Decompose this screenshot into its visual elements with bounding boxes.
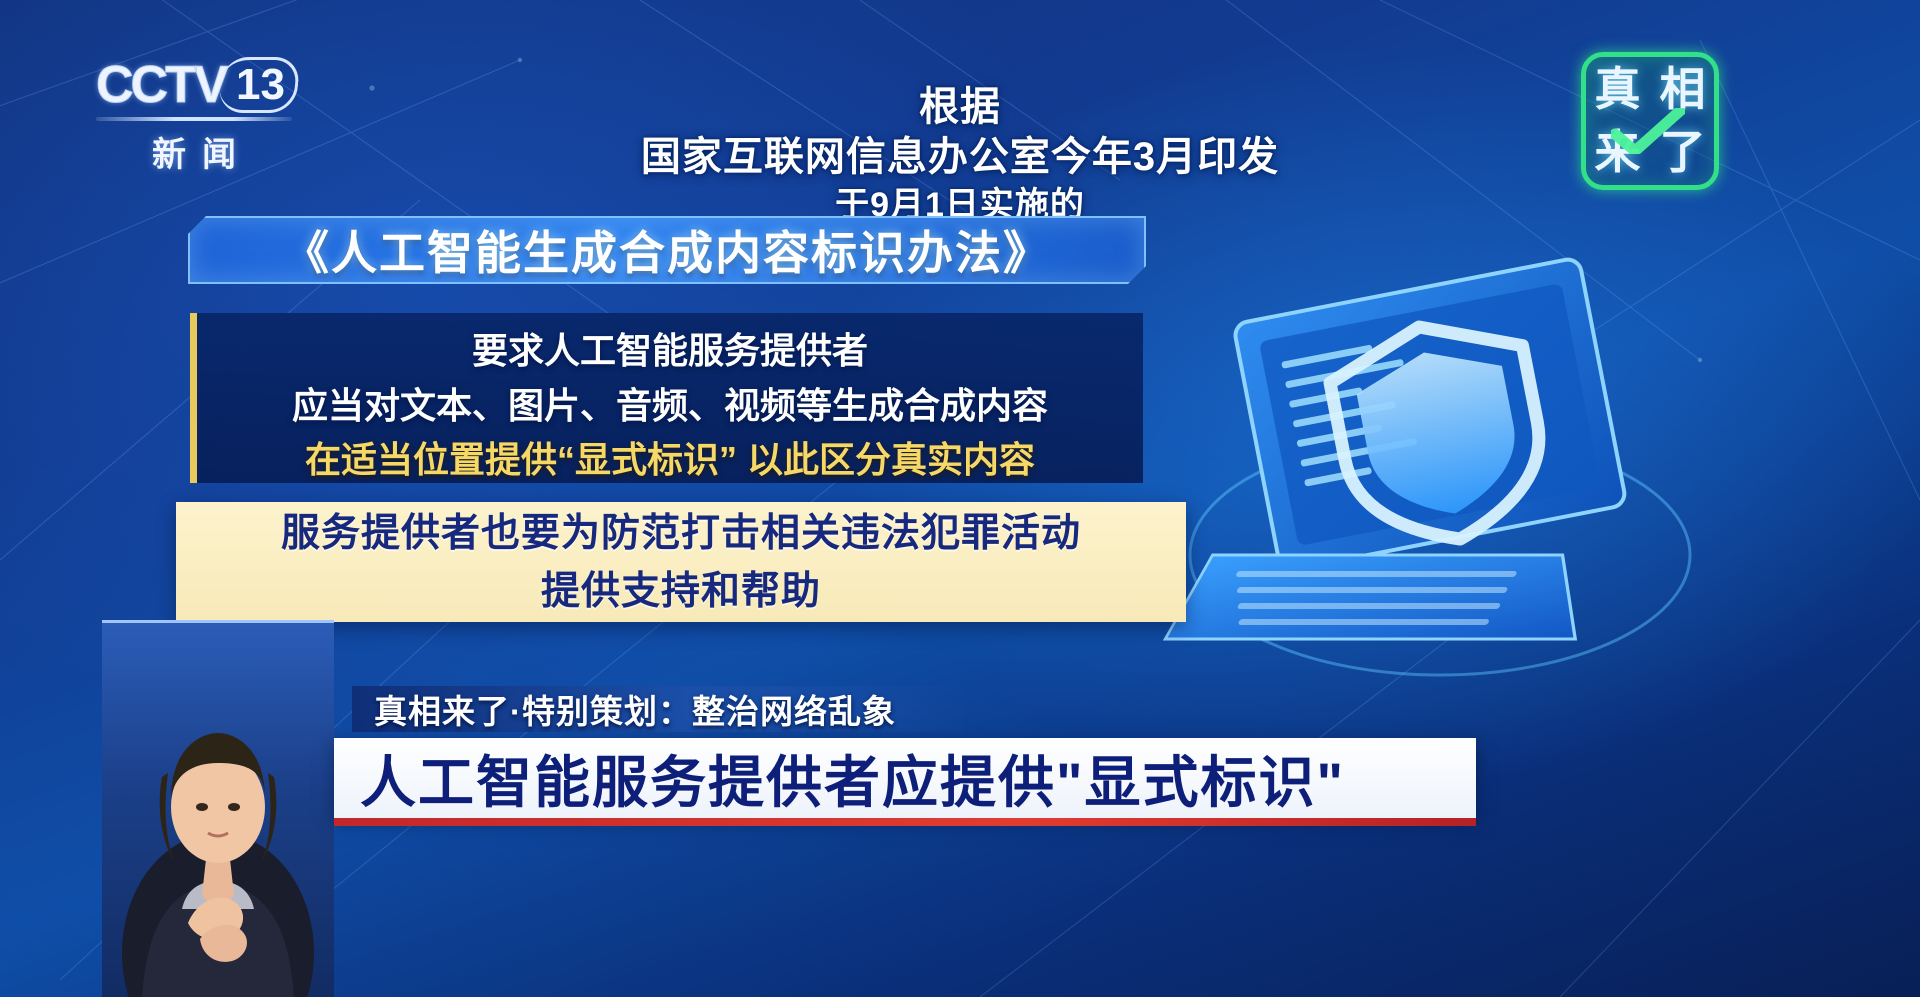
lower-third-subtitle: 真相来了·特别策划：整治网络乱象 xyxy=(374,685,896,733)
channel-number: 13 xyxy=(236,62,285,108)
requirement-info-box: 要求人工智能服务提供者 应当对文本、图片、音频、视频等生成合成内容 在适当位置提… xyxy=(190,313,1143,483)
lower-third-headline-bar: 人工智能服务提供者应提供"显式标识" xyxy=(334,738,1476,818)
channel-logo-underline xyxy=(96,117,292,121)
channel-logo-row: CCTV 13 xyxy=(96,57,316,113)
law-title-text: 《人工智能生成合成内容标识办法》 xyxy=(283,217,1051,283)
broadcast-screen: CCTV 13 新闻 真 相 来 了 根据 国家互联网信息办公室今年3月印发 于… xyxy=(0,0,1920,997)
lower-third: 真相来了·特别策划：整治网络乱象 人工智能服务提供者应提供"显式标识" xyxy=(334,628,1920,997)
laptop-shield-illustration xyxy=(1140,255,1700,685)
support-info-inner: 服务提供者也要为防范打击相关违法犯罪活动 提供支持和帮助 xyxy=(176,502,1186,621)
presenter-figure xyxy=(102,623,334,997)
channel-logo: CCTV 13 新闻 xyxy=(96,57,316,176)
lower-third-headline: 人工智能服务提供者应提供"显式标识" xyxy=(360,738,1345,819)
requirement-line-3-highlight: 在适当位置提供“显式标识” 以此区分真实内容 xyxy=(197,433,1143,487)
support-line-1: 服务提供者也要为防范打击相关违法犯罪活动 xyxy=(176,505,1186,563)
channel-number-badge: 13 xyxy=(217,57,301,113)
cctv-wordmark: CCTV xyxy=(96,59,226,111)
lower-third-accent-bar xyxy=(334,818,1476,826)
requirement-line-2: 应当对文本、图片、音频、视频等生成合成内容 xyxy=(197,379,1143,433)
support-line-2: 提供支持和帮助 xyxy=(176,563,1186,621)
channel-subname: 新闻 xyxy=(96,127,292,176)
sign-language-presenter-inset xyxy=(102,620,334,997)
show-logo: 真 相 来 了 xyxy=(1575,46,1725,196)
show-logo-char-1: 真 xyxy=(1595,67,1641,112)
checkmark-icon xyxy=(1611,108,1685,154)
law-title-banner: 《人工智能生成合成内容标识办法》 xyxy=(188,216,1146,284)
requirement-line-1: 要求人工智能服务提供者 xyxy=(197,313,1143,379)
show-logo-char-2: 相 xyxy=(1660,67,1706,112)
lower-third-subtitle-bar: 真相来了·特别策划：整治网络乱象 xyxy=(352,686,964,732)
support-info-box: 服务提供者也要为防范打击相关违法犯罪活动 提供支持和帮助 xyxy=(176,502,1186,622)
